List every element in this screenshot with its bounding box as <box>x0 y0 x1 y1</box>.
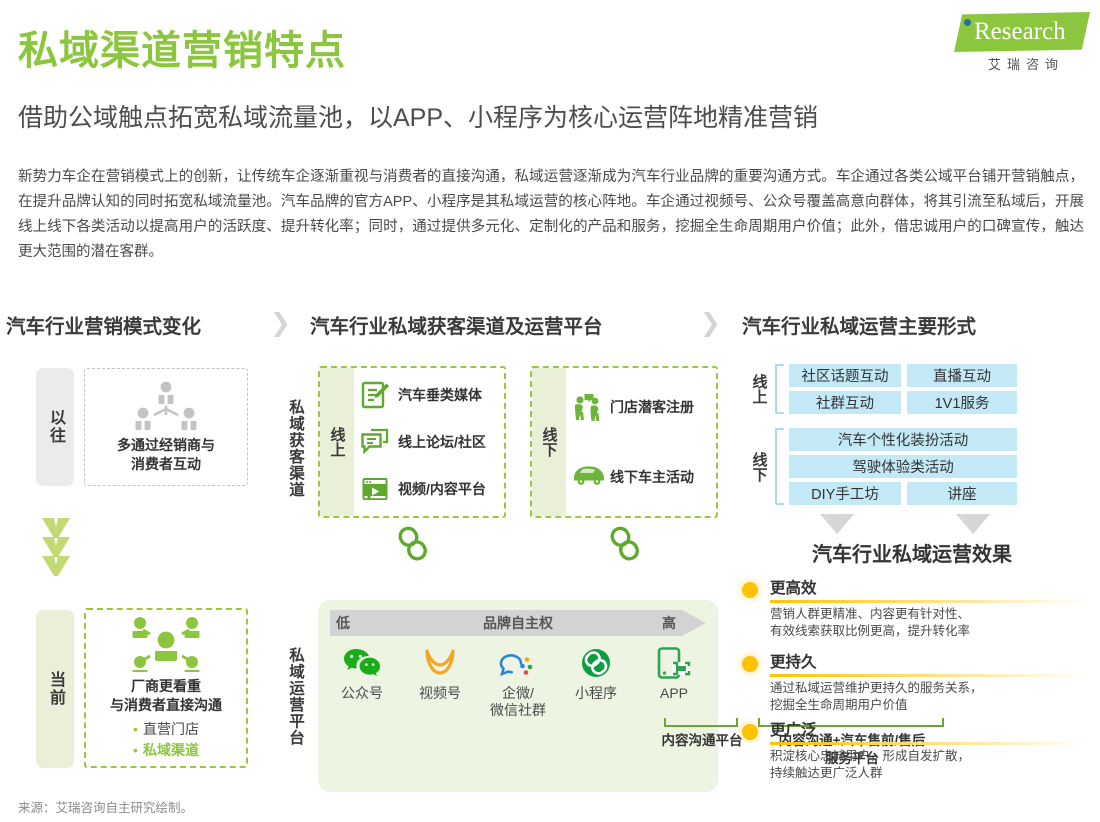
axis-label-high: 高 <box>662 613 676 633</box>
effect-divider <box>770 600 1090 603</box>
acquisition-vertical-label: 私域获客渠道 <box>282 368 308 528</box>
form-tag: DIY手工坊 <box>789 482 901 505</box>
card-past-model: 多通过经销商与 消费者互动 <box>84 368 248 486</box>
card-current-title: 厂商更看重 与消费者直接沟通 <box>110 677 222 715</box>
stage-label-current: 当前 <box>36 610 74 768</box>
list-item: 汽车垂类媒体 <box>360 380 504 410</box>
operation-platform-panel: 低 品牌自主权 高 公众号 视频号 <box>318 600 718 792</box>
platform-item-channels: 视频号 <box>402 644 478 702</box>
list-item: 线下车主活动 <box>572 462 716 492</box>
brand-autonomy-axis: 低 品牌自主权 高 <box>330 610 706 636</box>
platform-label: 视频号 <box>419 685 461 702</box>
form-tag: 驾驶体验类活动 <box>789 455 1017 478</box>
form-tag: 社区话题互动 <box>789 364 901 387</box>
effect-item: 更持久 通过私域运营维护更持久的服务关系， 挖掘全生命周期用户价值 <box>770 650 1090 714</box>
operation-form-group-offline: 线下 汽车个性化装扮活动 驾驶体验类活动 DIY手工坊 讲座 <box>746 428 1017 505</box>
channel-item-label: 线下车主活动 <box>610 467 694 487</box>
effect-item: 更高效 营销人群更精准、内容更有针对性、 有效线索获取比例更高，提升转化率 <box>770 576 1090 640</box>
operation-platform-vertical-label: 私域运营平台 <box>282 606 308 786</box>
platform-item-wecom: 企微/ 微信社群 <box>480 644 556 719</box>
mini-program-icon <box>578 644 614 682</box>
platform-item-official-account: 公众号 <box>324 644 400 702</box>
wecom-icon <box>499 644 537 682</box>
platform-item-app: APP <box>636 644 712 702</box>
channel-box-offline: 线下 门店潜客注册 线下车主活动 <box>530 366 718 518</box>
bullet-dot-icon <box>742 656 758 672</box>
channel-item-label: 视频/内容平台 <box>398 479 486 499</box>
card-past-title: 多通过经销商与 消费者互动 <box>117 436 215 474</box>
two-people-talking-icon <box>572 392 602 422</box>
logo-chinese-name: 艾瑞咨询 <box>964 54 1088 73</box>
platform-label: 企微/ 微信社群 <box>490 685 546 719</box>
stage-label-past: 以往 <box>36 368 74 486</box>
channel-tab-offline: 线下 <box>532 368 566 516</box>
effect-item: 更广泛 积淀核心忠诚用户，形成自发扩散， 持续触达更广泛人群 <box>770 718 1090 782</box>
chevron-down-icon <box>820 514 854 534</box>
wechat-channels-icon <box>421 644 459 682</box>
form-tag: 直播互动 <box>907 364 1017 387</box>
form-tag: 社群互动 <box>789 391 901 414</box>
bracket-icon <box>775 364 784 414</box>
form-tag: 1V1服务 <box>907 391 1017 414</box>
effect-body: 通过私域运营维护更持久的服务关系， 挖掘全生命周期用户价值 <box>770 680 1090 714</box>
effect-divider <box>770 742 1090 745</box>
page-title: 私域渠道营销特点 <box>18 18 346 76</box>
list-item: •私域渠道 <box>133 740 199 761</box>
edit-document-icon <box>360 380 390 410</box>
grouping-brace <box>664 718 738 727</box>
people-network-icon <box>135 381 197 436</box>
operation-form-group-online: 线上 社区话题互动 直播互动 社群互动 1V1服务 <box>746 364 1017 414</box>
page-subtitle: 借助公域触点拓宽私域流量池，以APP、小程序为核心运营阵地精准营销 <box>18 98 818 134</box>
effect-divider <box>770 674 1090 677</box>
chevron-right-icon: ❯ <box>700 308 721 338</box>
channel-item-label: 线上论坛/社区 <box>398 432 486 452</box>
axis-label-low: 低 <box>336 613 350 633</box>
car-icon <box>572 462 602 492</box>
list-item: •直营门店 <box>133 719 199 740</box>
effect-body: 营销人群更精准、内容更有针对性、 有效线索获取比例更高，提升转化率 <box>770 606 1090 640</box>
video-player-icon <box>360 474 390 504</box>
platform-label: 小程序 <box>575 685 617 702</box>
bullet-dot-icon <box>742 724 758 740</box>
channel-item-label: 门店潜客注册 <box>610 397 694 417</box>
bullet-dot-icon <box>742 582 758 598</box>
bracket-icon <box>775 428 784 505</box>
mobile-app-icon <box>655 644 693 682</box>
section-header-marketing-model: 汽车行业营销模式变化 <box>6 310 201 339</box>
chat-bubbles-icon <box>360 427 390 457</box>
effect-heading: 更广泛 <box>770 718 1090 742</box>
form-group-label-online: 线上 <box>746 374 772 404</box>
axis-label-title: 品牌自主权 <box>483 613 553 633</box>
intro-paragraph: 新势力车企在营销模式上的创新，让传统车企逐渐重视与消费者的直接沟通，私域运营逐渐… <box>18 165 1084 265</box>
bullet-dot-icon: • <box>133 721 138 737</box>
channel-tab-online: 线上 <box>320 368 354 516</box>
card-current-bullets: •直营门店 •私域渠道 <box>133 719 199 761</box>
chain-link-icon <box>608 524 642 564</box>
chevron-right-icon: ❯ <box>270 308 291 338</box>
channel-box-online: 线上 汽车垂类媒体 线上论坛/社区 视频/内容平台 <box>318 366 506 518</box>
logo-wordmark: Research <box>974 18 1066 46</box>
card-current-model: 厂商更看重 与消费者直接沟通 •直营门店 •私域渠道 <box>84 608 248 768</box>
list-item: 线上论坛/社区 <box>360 427 504 457</box>
platform-item-mini-program: 小程序 <box>558 644 634 702</box>
effects-arrows <box>800 512 1010 536</box>
form-tag: 讲座 <box>907 482 1017 505</box>
people-network-green-icon <box>126 616 206 677</box>
effects-title: 汽车行业私域运营效果 <box>742 538 1082 567</box>
form-tag: 汽车个性化装扮活动 <box>789 428 1017 451</box>
iresearch-logo: i Research 艾瑞咨询 <box>940 12 1090 74</box>
effect-heading: 更高效 <box>770 576 1090 600</box>
section-header-operation-forms: 汽车行业私域运营主要形式 <box>742 310 976 339</box>
channel-item-label: 汽车垂类媒体 <box>398 385 482 405</box>
platform-label: 公众号 <box>341 685 383 702</box>
chevron-down-icon <box>956 514 990 534</box>
list-item: 门店潜客注册 <box>572 392 716 422</box>
bullet-dot-icon: • <box>133 742 138 758</box>
section-header-channels-platform: 汽车行业私域获客渠道及运营平台 <box>310 310 603 339</box>
chain-link-icon <box>396 524 430 564</box>
wechat-icon <box>343 644 381 682</box>
platform-label: APP <box>660 685 688 702</box>
triple-chevron-down-icon <box>40 516 72 576</box>
source-footer: 来源：艾瑞咨询自主研究绘制。 <box>18 797 193 816</box>
form-group-label-offline: 线下 <box>746 452 772 482</box>
effect-heading: 更持久 <box>770 650 1090 674</box>
logo-letter-i: i <box>962 24 969 51</box>
effect-body: 积淀核心忠诚用户，形成自发扩散， 持续触达更广泛人群 <box>770 748 1090 782</box>
list-item: 视频/内容平台 <box>360 474 504 504</box>
